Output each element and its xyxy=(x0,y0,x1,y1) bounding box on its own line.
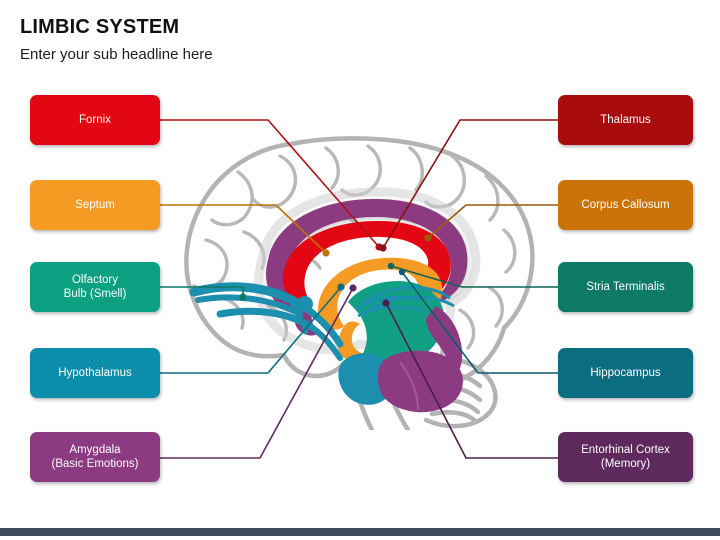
label-text-hippocampus: Hippocampus xyxy=(590,366,660,380)
label-box-septum[interactable]: Septum xyxy=(30,180,160,230)
label-text-hypothalamus: Hypothalamus xyxy=(58,366,132,380)
label-text-amygdala: Amygdala (Basic Emotions) xyxy=(52,443,139,472)
label-box-amygdala[interactable]: Amygdala (Basic Emotions) xyxy=(30,432,160,482)
label-text-entorhinal-cortex: Entorhinal Cortex (Memory) xyxy=(581,443,670,472)
brain-diagram xyxy=(160,100,560,430)
page-title: LIMBIC SYSTEM xyxy=(20,16,179,39)
label-box-hippocampus[interactable]: Hippocampus xyxy=(558,348,693,398)
label-box-corpus-callosum[interactable]: Corpus Callosum xyxy=(558,180,693,230)
label-box-hypothalamus[interactable]: Hypothalamus xyxy=(30,348,160,398)
label-text-septum: Septum xyxy=(75,198,115,212)
label-box-stria-terminalis[interactable]: Stria Terminalis xyxy=(558,262,693,312)
label-text-fornix: Fornix xyxy=(79,113,111,127)
label-box-olfactory-bulb[interactable]: Olfactory Bulb (Smell) xyxy=(30,262,160,312)
label-box-entorhinal-cortex[interactable]: Entorhinal Cortex (Memory) xyxy=(558,432,693,482)
septum-structure xyxy=(297,296,313,312)
label-text-thalamus: Thalamus xyxy=(600,113,651,127)
label-box-fornix[interactable]: Fornix xyxy=(30,95,160,145)
label-text-corpus-callosum: Corpus Callosum xyxy=(581,198,669,212)
slide-canvas: LIMBIC SYSTEM Enter your sub headline he… xyxy=(0,0,720,540)
page-subtitle: Enter your sub headline here xyxy=(20,46,213,63)
footer-accent-bar xyxy=(0,528,720,536)
label-box-thalamus[interactable]: Thalamus xyxy=(558,95,693,145)
label-text-olfactory-bulb: Olfactory Bulb (Smell) xyxy=(64,273,127,302)
label-text-stria-terminalis: Stria Terminalis xyxy=(586,280,664,294)
